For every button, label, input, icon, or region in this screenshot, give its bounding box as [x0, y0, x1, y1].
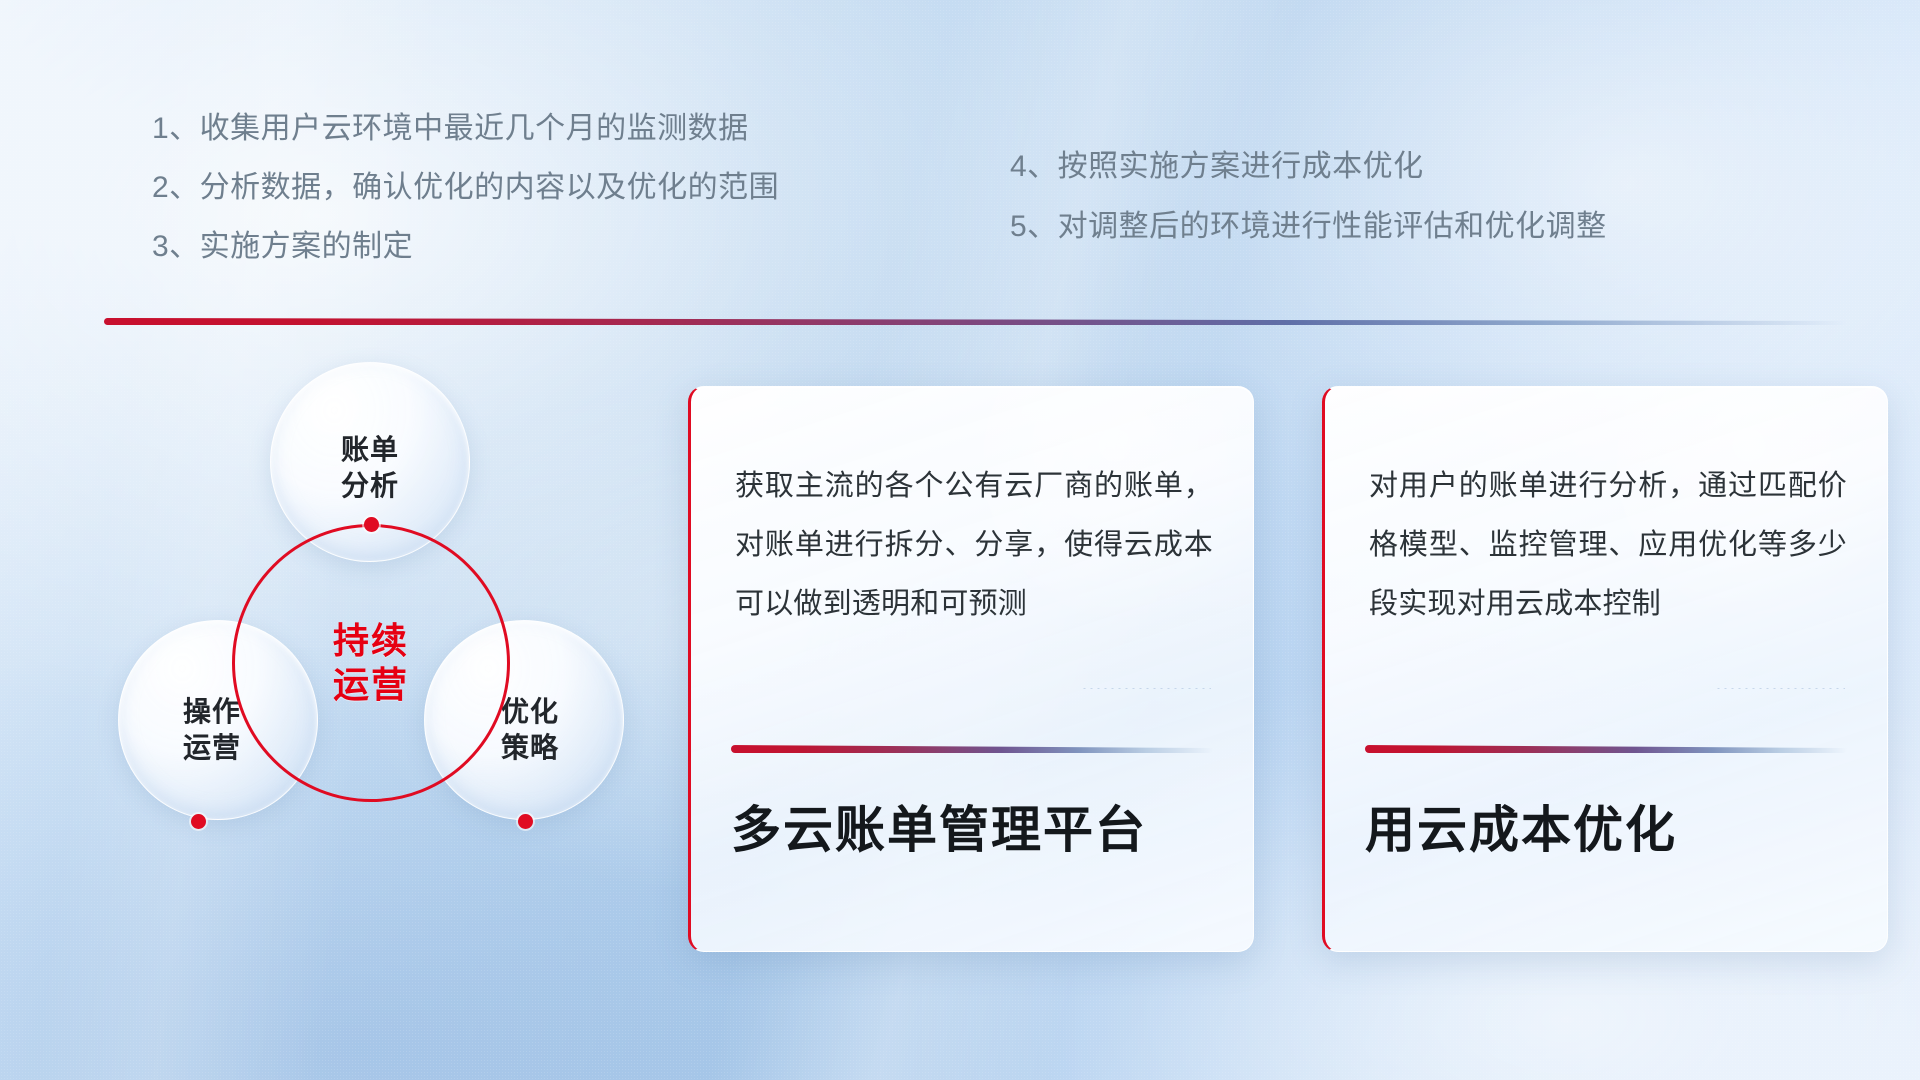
process-list-right-column: 4、按照实施方案进行成本优化 5、对调整后的环境进行性能评估和优化调整: [1010, 152, 1607, 272]
process-step-4: 4、按照实施方案进行成本优化: [1010, 152, 1607, 182]
card-body-text: 获取主流的各个公有云厂商的账单，对账单进行拆分、分享，使得云成本可以做到透明和可…: [735, 457, 1213, 634]
process-step-5: 5、对调整后的环境进行性能评估和优化调整: [1010, 212, 1607, 242]
card-title: 多云账单管理平台: [731, 801, 1219, 860]
card-title: 用云成本优化: [1365, 801, 1853, 860]
card-dotted-accent: [1715, 687, 1845, 690]
continuous-operation-venn-diagram: 账单 分析 操作 运营 优化 策略 持续 运营: [96, 352, 656, 952]
card-dotted-accent: [1081, 687, 1211, 690]
venn-center-label: 持续 运营: [232, 524, 510, 802]
feature-card-group: 获取主流的各个公有云厂商的账单，对账单进行拆分、分享，使得云成本可以做到透明和可…: [688, 386, 1888, 952]
card-cloud-cost-optimization[interactable]: 对用户的账单进行分析，通过匹配价格模型、监控管理、应用优化等多少段实现对用云成本…: [1322, 386, 1888, 952]
venn-node-dot-top: [364, 517, 379, 532]
card-body-text: 对用户的账单进行分析，通过匹配价格模型、监控管理、应用优化等多少段实现对用云成本…: [1369, 457, 1847, 634]
card-multicloud-billing-platform[interactable]: 获取主流的各个公有云厂商的账单，对账单进行拆分、分享，使得云成本可以做到透明和可…: [688, 386, 1254, 952]
card-divider-rule: [731, 745, 1213, 753]
venn-node-dot-right: [518, 814, 533, 829]
venn-node-dot-left: [191, 814, 206, 829]
process-list-left-column: 1、收集用户云环境中最近几个月的监测数据 2、分析数据，确认优化的内容以及优化的…: [152, 114, 779, 291]
process-step-3: 3、实施方案的制定: [152, 232, 779, 262]
process-step-list: 1、收集用户云环境中最近几个月的监测数据 2、分析数据，确认优化的内容以及优化的…: [0, 0, 1920, 300]
venn-lobe-label: 账单 分析: [341, 432, 399, 505]
process-step-2: 2、分析数据，确认优化的内容以及优化的范围: [152, 173, 779, 203]
card-divider-rule: [1365, 745, 1847, 753]
process-step-1: 1、收集用户云环境中最近几个月的监测数据: [152, 114, 779, 144]
